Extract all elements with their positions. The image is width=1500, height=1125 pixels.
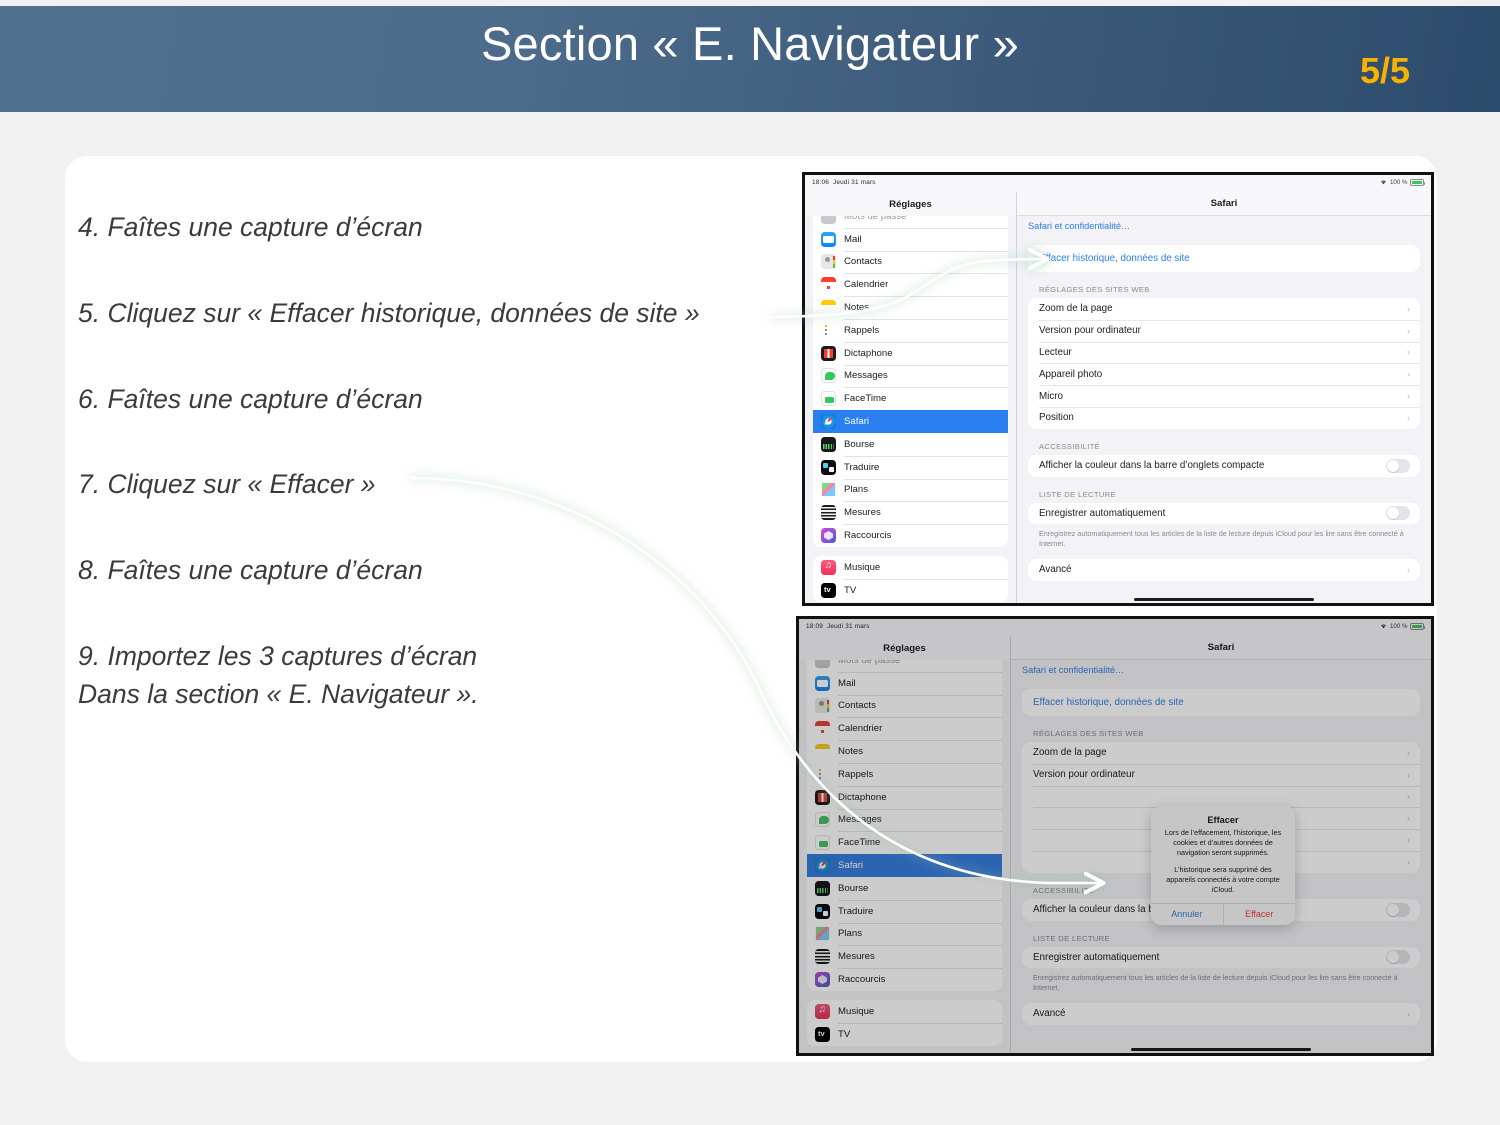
row-label: Avancé [1033, 1008, 1066, 1019]
page-title: Section « E. Navigateur » [0, 16, 1500, 71]
toggle-switch[interactable] [1386, 950, 1410, 964]
sidebar-item-plans[interactable]: Plans [807, 923, 1002, 946]
alert-body: Lors de l’effacement, l’historique, les … [1151, 828, 1295, 903]
sidebar-item-label: Rappels [844, 325, 1000, 336]
maps-icon [821, 482, 836, 497]
sidebar-item-label: Musique [844, 562, 1000, 573]
passwords-icon [815, 660, 830, 668]
reminders-icon [821, 323, 836, 338]
settings-sidebar-bottom[interactable]: Réglages Mots de passe Mail [799, 636, 1011, 1053]
sidebar-item-label: Mail [838, 678, 994, 689]
chevron-right-icon: › [1407, 369, 1410, 379]
row-label: Enregistrer automatiquement [1033, 952, 1159, 963]
section-header-reading-top: LISTE DE LECTURE [1017, 477, 1431, 503]
status-time-date: 18:06 Jeudi 31 mars [812, 179, 876, 186]
sidebar-item-tv[interactable]: TV [813, 579, 1008, 602]
chevron-right-icon: › [1407, 791, 1410, 801]
chevron-right-icon: › [1407, 1009, 1410, 1019]
passwords-icon [821, 216, 836, 224]
sidebar-item-musique[interactable]: Musique [813, 556, 1008, 579]
safari-settings-pane-bottom[interactable]: Safari Safari et confidentialité… Efface… [1011, 636, 1431, 1053]
sidebar-item-label: Mots de passe [838, 660, 994, 666]
facetime-icon [821, 391, 836, 406]
sidebar-item-label: FaceTime [838, 837, 994, 848]
sidebar-group-media-bottom[interactable]: Musique TV [807, 1000, 1002, 1046]
sidebar-item-raccourcis[interactable]: Raccourcis [813, 524, 1008, 547]
sidebar-item-contacts[interactable]: Contacts [813, 251, 1008, 274]
alert-title: Effacer [1151, 806, 1295, 828]
sidebar-item-label: Notes [844, 302, 1000, 313]
sidebar-item-raccourcis[interactable]: Raccourcis [807, 968, 1002, 991]
chevron-right-icon: › [1407, 857, 1410, 867]
row-label: Micro [1039, 391, 1063, 402]
sidebar-item-facetime[interactable]: FaceTime [807, 831, 1002, 854]
sidebar-item-label: Notes [838, 746, 994, 757]
reminders-icon [815, 767, 830, 782]
row-appareil-photo[interactable]: Appareil photo› [1028, 363, 1420, 385]
advanced-group-top[interactable]: Avancé› [1028, 559, 1420, 581]
ipad-screenshot-top: 18:06 Jeudi 31 mars 100 % Réglages [802, 172, 1434, 606]
sidebar-item-messages[interactable]: Messages [807, 809, 1002, 832]
sidebar-item-traduire[interactable]: Traduire [813, 456, 1008, 479]
instruction-item-6: 6. Faîtes une capture d’écran [78, 384, 778, 416]
sidebar-item-label: Mesures [838, 951, 994, 962]
sidebar-title-bottom: Réglages [799, 636, 1010, 660]
home-indicator [1134, 598, 1314, 601]
sidebar-item-label: Dictaphone [844, 348, 1000, 359]
notes-icon [821, 300, 836, 315]
instruction-list: 4. Faîtes une capture d’écran 5. Cliquez… [78, 212, 778, 711]
sidebar-item-mesures[interactable]: Mesures [807, 945, 1002, 968]
safari-icon [815, 858, 830, 873]
sidebar-item-label: Mail [844, 234, 1000, 245]
row-afficher-couleur[interactable]: Afficher la couleur dans la barre d’ongl… [1028, 455, 1420, 477]
row-lecteur[interactable]: Lecteur› [1022, 786, 1420, 808]
facetime-icon [815, 835, 830, 850]
sidebar-item-rappels[interactable]: Rappels [813, 319, 1008, 342]
sidebar-item-label: Messages [844, 370, 1000, 381]
battery-icon [1410, 179, 1424, 186]
row-position[interactable]: Position› [1028, 407, 1420, 429]
sidebar-item-messages[interactable]: Messages [813, 365, 1008, 388]
sidebar-item-label: Plans [838, 928, 994, 939]
sidebar-item-bourse[interactable]: Bourse [813, 433, 1008, 456]
sidebar-item-label: Traduire [844, 462, 1000, 473]
sidebar-title-top: Réglages [805, 192, 1016, 216]
sidebar-item-tv[interactable]: TV [807, 1023, 1002, 1046]
sidebar-item-musique[interactable]: Musique [807, 1000, 1002, 1023]
chevron-right-icon: › [1407, 413, 1410, 423]
battery-icon [1410, 623, 1424, 630]
safari-privacy-link-top[interactable]: Safari et confidentialité… [1017, 216, 1431, 239]
sidebar-group-apps-top[interactable]: Mots de passe Mail Contacts [813, 216, 1008, 547]
sidebar-item-label: Traduire [838, 906, 994, 917]
status-bar-top: 18:06 Jeudi 31 mars 100 % [805, 175, 1431, 192]
sidebar-item-passwords[interactable]: Mots de passe [813, 216, 1008, 228]
safari-privacy-link-bottom[interactable]: Safari et confidentialité… [1011, 660, 1431, 683]
shortcuts-icon [815, 972, 830, 987]
sidebar-item-label: Safari [844, 416, 1000, 427]
instruction-item-5: 5. Cliquez sur « Effacer historique, don… [78, 298, 778, 330]
chevron-right-icon: › [1407, 391, 1410, 401]
status-indicators: 100 % [1380, 179, 1424, 186]
toggle-switch[interactable] [1386, 459, 1410, 473]
sidebar-scroll-top[interactable]: Mots de passe Mail Contacts [805, 216, 1016, 603]
sidebar-item-traduire[interactable]: Traduire [807, 900, 1002, 923]
chevron-right-icon: › [1407, 748, 1410, 758]
chevron-right-icon: › [1407, 770, 1410, 780]
stocks-icon [821, 437, 836, 452]
row-enregistrer-auto[interactable]: Enregistrer automatiquement [1022, 947, 1420, 969]
stocks-icon [815, 881, 830, 896]
sidebar-item-dictaphone[interactable]: Dictaphone [813, 342, 1008, 365]
maps-icon [815, 926, 830, 941]
slide-root: Section « E. Navigateur » 5/5 4. Faîtes … [0, 0, 1500, 1125]
sidebar-item-plans[interactable]: Plans [813, 479, 1008, 502]
safari-icon [821, 414, 836, 429]
sidebar-item-label: Musique [838, 1006, 994, 1017]
settings-sidebar-top[interactable]: Réglages Mots de passe Mail [805, 192, 1017, 603]
battery-percent: 100 % [1390, 179, 1408, 186]
row-version-pour-ordinateur[interactable]: Version pour ordinateur› [1028, 320, 1420, 342]
slide-header: Section « E. Navigateur » 5/5 [0, 6, 1500, 112]
row-zoom-de-la-page[interactable]: Zoom de la page› [1028, 298, 1420, 320]
instruction-item-9: 9. Importez les 3 captures d’écran [78, 641, 778, 673]
row-label: Appareil photo [1039, 369, 1102, 380]
voice-memos-icon [815, 790, 830, 805]
advanced-group-bottom[interactable]: Avancé› [1022, 1003, 1420, 1025]
sidebar-item-label: TV [838, 1029, 994, 1040]
toggle-switch[interactable] [1386, 506, 1410, 520]
wifi-icon [1380, 623, 1387, 629]
row-enregistrer-auto[interactable]: Enregistrer automatiquement [1028, 503, 1420, 525]
section-header-accessibility-top: ACCESSIBILITÉ [1017, 429, 1431, 455]
sidebar-item-label: Raccourcis [844, 530, 1000, 541]
chevron-right-icon: › [1407, 835, 1410, 845]
mail-icon [821, 232, 836, 247]
status-time-date: 18:09 Jeudi 31 mars [806, 623, 870, 630]
measure-icon [821, 505, 836, 520]
sidebar-item-calendrier[interactable]: Calendrier [807, 717, 1002, 740]
sidebar-item-notes[interactable]: Notes [813, 296, 1008, 319]
alert-confirm-button[interactable]: Effacer [1223, 904, 1296, 925]
instruction-item-9-cont: Dans la section « E. Navigateur ». [78, 679, 778, 711]
sidebar-item-label: Rappels [838, 769, 994, 780]
music-icon [815, 1004, 830, 1019]
calendar-icon [815, 721, 830, 736]
sidebar-item-label: Calendrier [844, 279, 1000, 290]
translate-icon [821, 460, 836, 475]
messages-icon [821, 368, 836, 383]
sidebar-item-facetime[interactable]: FaceTime [813, 387, 1008, 410]
row-avance[interactable]: Avancé› [1028, 559, 1420, 581]
section-header-websites-bottom: RÉGLAGES DES SITES WEB [1011, 716, 1431, 742]
sidebar-item-label: Bourse [838, 883, 994, 894]
sidebar-item-label: Safari [838, 860, 994, 871]
detail-scroll-top[interactable]: Safari et confidentialité… Effacer histo… [1017, 216, 1431, 603]
section-header-websites-top: RÉGLAGES DES SITES WEB [1017, 272, 1431, 298]
sidebar-group-apps-bottom[interactable]: Mots de passe Mail Contacts [807, 660, 1002, 991]
sidebar-item-label: Messages [838, 814, 994, 825]
sidebar-item-mail[interactable]: Mail [807, 672, 1002, 695]
sidebar-group-media-top[interactable]: Musique TV [813, 556, 1008, 602]
voice-memos-icon [821, 346, 836, 361]
shortcuts-icon [821, 528, 836, 543]
alert-paragraph-1: Lors de l’effacement, l’historique, les … [1162, 828, 1284, 858]
detail-title-top: Safari [1017, 192, 1431, 216]
accessibility-group-top[interactable]: Afficher la couleur dans la barre d’ongl… [1028, 455, 1420, 477]
sidebar-item-passwords[interactable]: Mots de passe [807, 660, 1002, 672]
row-micro[interactable]: Micro› [1028, 385, 1420, 407]
row-version-pour-ordinateur[interactable]: Version pour ordinateur› [1022, 764, 1420, 786]
instruction-item-8: 8. Faîtes une capture d’écran [78, 555, 778, 587]
row-label: Version pour ordinateur [1039, 325, 1141, 336]
contacts-icon [821, 254, 836, 269]
chevron-right-icon: › [1407, 565, 1410, 575]
home-indicator [1131, 1048, 1311, 1051]
instruction-item-4: 4. Faîtes une capture d’écran [78, 212, 778, 244]
contacts-icon [815, 698, 830, 713]
sidebar-item-label: Contacts [844, 256, 1000, 267]
alert-actions: Annuler Effacer [1151, 903, 1295, 925]
detail-title-bottom: Safari [1011, 636, 1431, 660]
sidebar-item-contacts[interactable]: Contacts [807, 695, 1002, 718]
reading-list-group-bottom[interactable]: Enregistrer automatiquement [1022, 947, 1420, 969]
sidebar-item-notes[interactable]: Notes [807, 740, 1002, 763]
sidebar-item-label: TV [844, 585, 1000, 596]
sidebar-item-label: Plans [844, 484, 1000, 495]
battery-percent: 100 % [1390, 623, 1408, 630]
toggle-switch[interactable] [1386, 903, 1410, 917]
chevron-right-icon: › [1407, 326, 1410, 336]
sidebar-scroll-bottom[interactable]: Mots de passe Mail Contacts [799, 660, 1010, 1053]
sidebar-item-rappels[interactable]: Rappels [807, 763, 1002, 786]
sidebar-item-label: Mots de passe [844, 216, 1000, 222]
ipad-screenshot-bottom: 18:09 Jeudi 31 mars 100 % Réglages [796, 616, 1434, 1056]
music-icon [821, 560, 836, 575]
sidebar-item-label: Dictaphone [838, 792, 994, 803]
website-settings-group-top[interactable]: Zoom de la page› Version pour ordinateur… [1028, 298, 1420, 429]
translate-icon [815, 904, 830, 919]
tv-icon [815, 1027, 830, 1042]
row-zoom-de-la-page[interactable]: Zoom de la page› [1022, 742, 1420, 764]
sidebar-item-dictaphone[interactable]: Dictaphone [807, 786, 1002, 809]
tv-icon [821, 583, 836, 598]
alert-cancel-button[interactable]: Annuler [1151, 904, 1223, 925]
row-label: Zoom de la page [1039, 303, 1113, 314]
row-label: Version pour ordinateur [1033, 769, 1135, 780]
sidebar-item-safari[interactable]: Safari [813, 410, 1008, 433]
row-label: Lecteur [1039, 347, 1072, 358]
status-indicators: 100 % [1380, 623, 1424, 630]
alert-paragraph-2: L’historique sera supprimé des appareils… [1162, 865, 1284, 895]
measure-icon [815, 949, 830, 964]
chevron-right-icon: › [1407, 304, 1410, 314]
instruction-item-7: 7. Cliquez sur « Effacer » [78, 469, 778, 501]
clear-history-alert[interactable]: Effacer Lors de l’effacement, l’historiq… [1151, 806, 1295, 925]
row-label: Afficher la couleur dans la barre d’ongl… [1039, 460, 1264, 471]
row-avance[interactable]: Avancé› [1022, 1003, 1420, 1025]
sidebar-item-safari[interactable]: Safari [807, 854, 1002, 877]
mail-icon [815, 676, 830, 691]
safari-settings-pane-top[interactable]: Safari Safari et confidentialité… Efface… [1017, 192, 1431, 603]
row-label: Avancé [1039, 564, 1072, 575]
page-counter: 5/5 [1360, 50, 1410, 92]
sidebar-item-calendrier[interactable]: Calendrier [813, 273, 1008, 296]
clear-history-button-bottom[interactable]: Effacer historique, données de site [1022, 689, 1420, 716]
reading-list-group-top[interactable]: Enregistrer automatiquement [1028, 503, 1420, 525]
status-bar-bottom: 18:09 Jeudi 31 mars 100 % [799, 619, 1431, 636]
reading-list-footnote-bottom: Enregistrez automatiquement tous les art… [1011, 968, 1431, 992]
row-label: Enregistrer automatiquement [1039, 508, 1165, 519]
notes-icon [815, 744, 830, 759]
sidebar-item-mail[interactable]: Mail [813, 228, 1008, 251]
row-label: Position [1039, 412, 1074, 423]
reading-list-footnote-top: Enregistrez automatiquement tous les art… [1017, 524, 1431, 548]
chevron-right-icon: › [1407, 347, 1410, 357]
wifi-icon [1380, 179, 1387, 185]
sidebar-item-mesures[interactable]: Mesures [813, 501, 1008, 524]
clear-history-button-top[interactable]: Effacer historique, données de site [1028, 245, 1420, 272]
row-lecteur[interactable]: Lecteur› [1028, 342, 1420, 364]
messages-icon [815, 812, 830, 827]
sidebar-item-label: Mesures [844, 507, 1000, 518]
sidebar-item-label: Raccourcis [838, 974, 994, 985]
sidebar-item-label: Bourse [844, 439, 1000, 450]
chevron-right-icon: › [1407, 813, 1410, 823]
sidebar-item-label: FaceTime [844, 393, 1000, 404]
calendar-icon [821, 277, 836, 292]
sidebar-item-bourse[interactable]: Bourse [807, 877, 1002, 900]
sidebar-item-label: Calendrier [838, 723, 994, 734]
sidebar-item-label: Contacts [838, 700, 994, 711]
row-label: Zoom de la page [1033, 747, 1107, 758]
